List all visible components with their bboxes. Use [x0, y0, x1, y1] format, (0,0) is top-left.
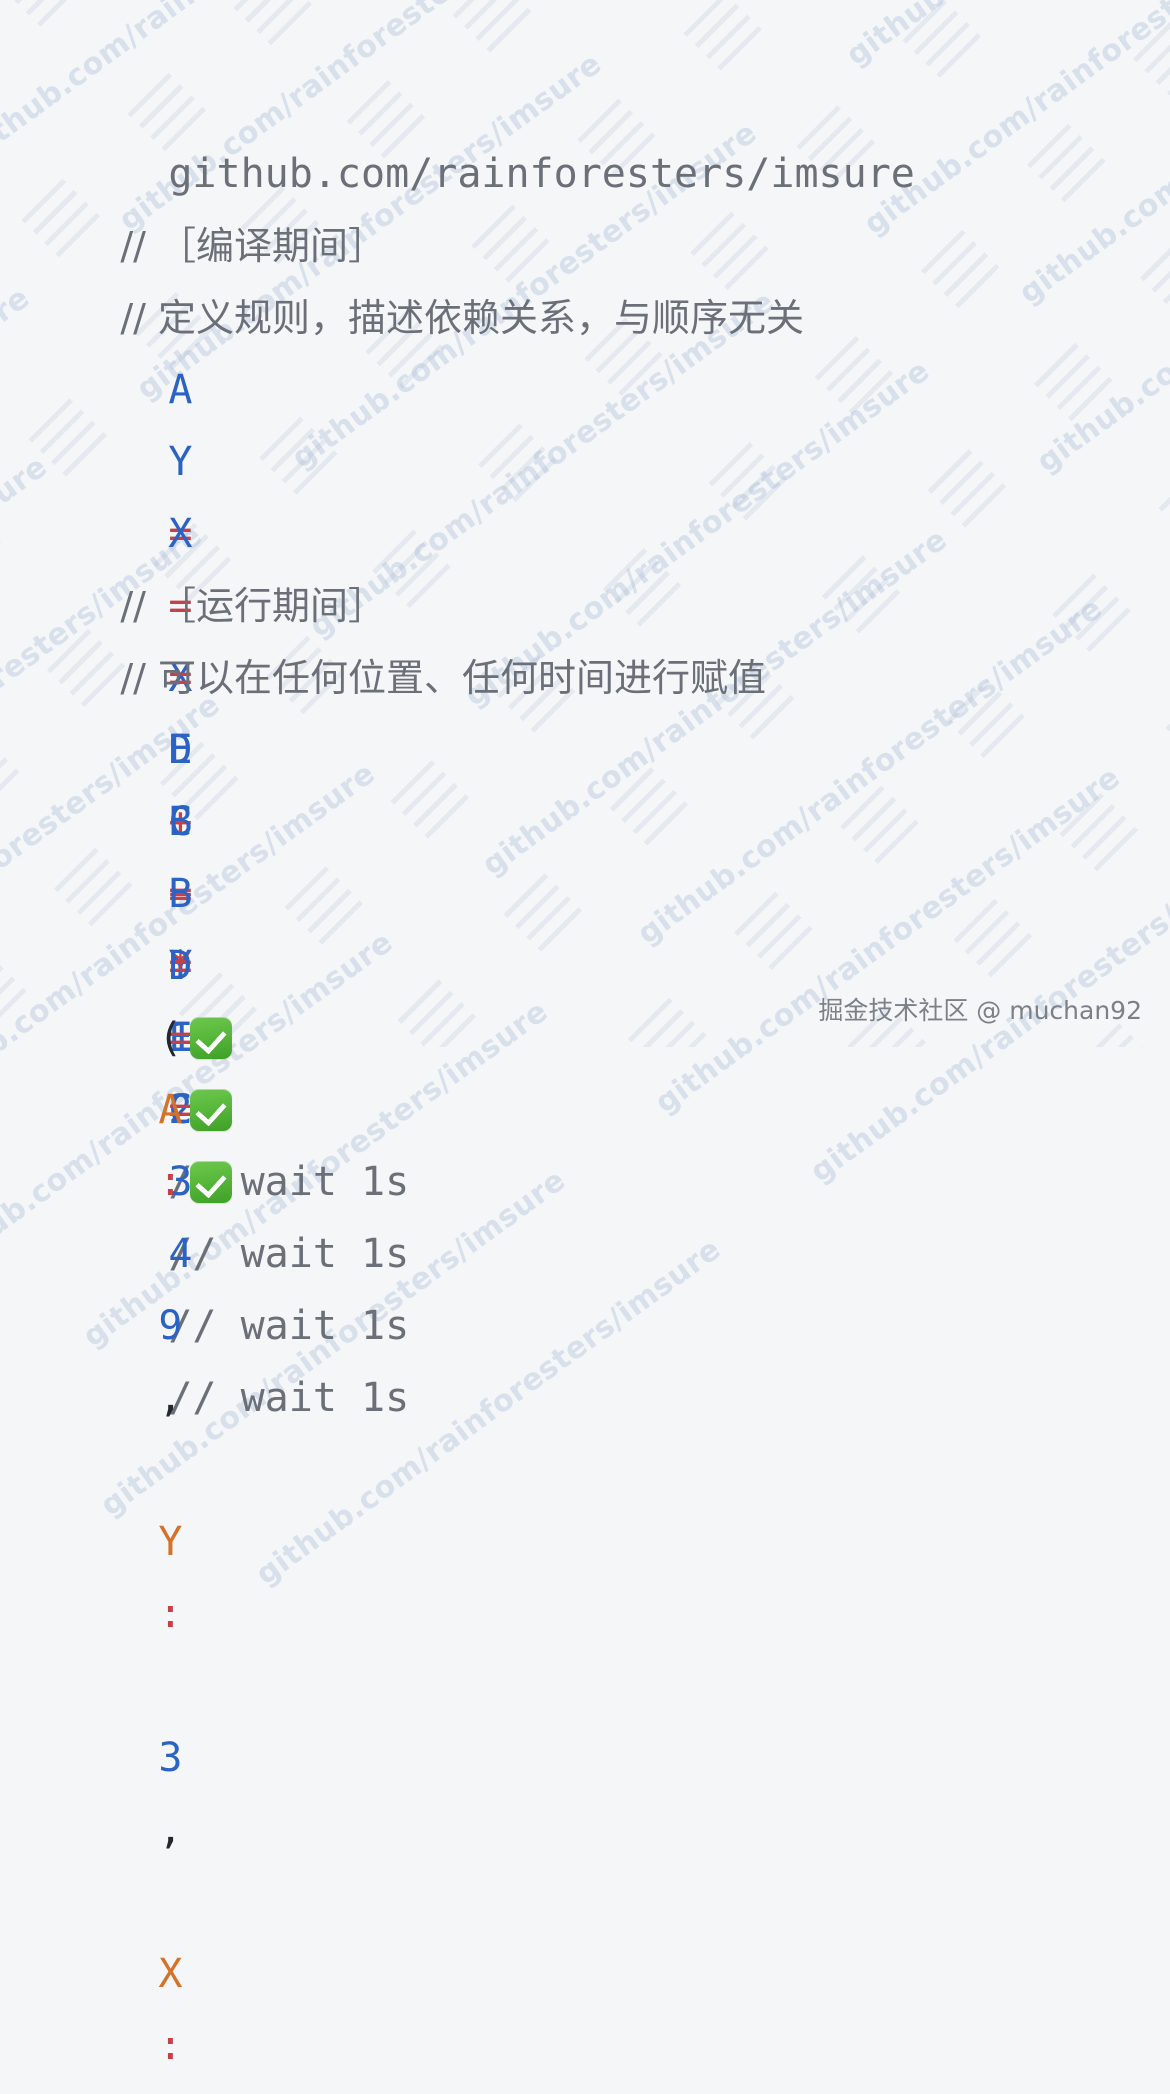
compile-phase-desc-text: // 定义规则，描述依赖关系，与顺序无关 [120, 296, 804, 340]
space [158, 1447, 182, 1493]
result-key: Y [158, 1519, 182, 1565]
result-separator: , [158, 1375, 182, 1421]
assign-comment: // wait 1s [168, 1231, 409, 1277]
watermark-text: github.com/rainforesters/imsure [840, 0, 1170, 73]
code-line-assign-c: C = 2 // wait 1s [72, 714, 1150, 786]
space [158, 1879, 182, 1925]
result-value: 3 [158, 1735, 182, 1781]
runtime-phase-desc-text: // 可以在任何位置、任何时间进行赋值 [120, 656, 766, 700]
assign-lhs: B [168, 871, 192, 917]
code-line-rule-x: X = B * C [72, 426, 1150, 498]
check-mark-button-icon [190, 1089, 232, 1131]
rule-lhs: Y [168, 439, 192, 485]
space [158, 1663, 182, 1709]
assign-comment: // wait 1s [168, 1375, 409, 1421]
check-mark-button-icon [190, 1161, 232, 1203]
assign-comment: // wait 1s [168, 1303, 409, 1349]
code-line-assign-b: B = 3 // wait 1s [72, 786, 1150, 858]
watermark-text: github.com/rainforesters/imsure [0, 280, 36, 641]
assign-lhs: D [168, 943, 192, 989]
attribution-text: 掘金技术社区 @ muchan92 [818, 991, 1142, 1027]
code-line-url: github.com/rainforesters/imsure [72, 66, 1150, 138]
rule-lhs: A [168, 367, 192, 413]
repo-url-text: github.com/rainforesters/imsure [168, 151, 915, 197]
result-colon: : [158, 2023, 182, 2069]
code-line-runtime-phase-label: // ［运行期间］ [72, 498, 1150, 570]
code-line-assign-d: D = 4 // wait 1s [72, 858, 1150, 930]
space [158, 1231, 182, 1277]
result-colon: : [158, 1159, 182, 1205]
runtime-phase-label-text: // ［运行期间］ [120, 584, 386, 628]
rule-lhs: X [168, 511, 192, 557]
code-block: github.com/rainforesters/imsure // ［编译期间… [72, 66, 1150, 1002]
result-colon: : [158, 1591, 182, 1637]
watermark-text: github.com/rainforesters/imsure [684, 0, 1162, 4]
result-separator: , [158, 1807, 182, 1853]
check-mark-button-icon [190, 1017, 232, 1059]
assign-lhs: C [168, 799, 192, 845]
result-open-paren: ( [158, 1015, 182, 1061]
result-key: X [158, 1951, 182, 1997]
assign-lhs: E [168, 727, 192, 773]
compile-phase-label-text: // ［编译期间］ [120, 224, 386, 268]
result-key: A [158, 1087, 182, 1133]
code-line-rule-y: Y = D − E [72, 354, 1150, 426]
watermark-text: github.com/rainforesters/imsure [0, 449, 54, 810]
result-value: 9 [158, 1303, 182, 1349]
